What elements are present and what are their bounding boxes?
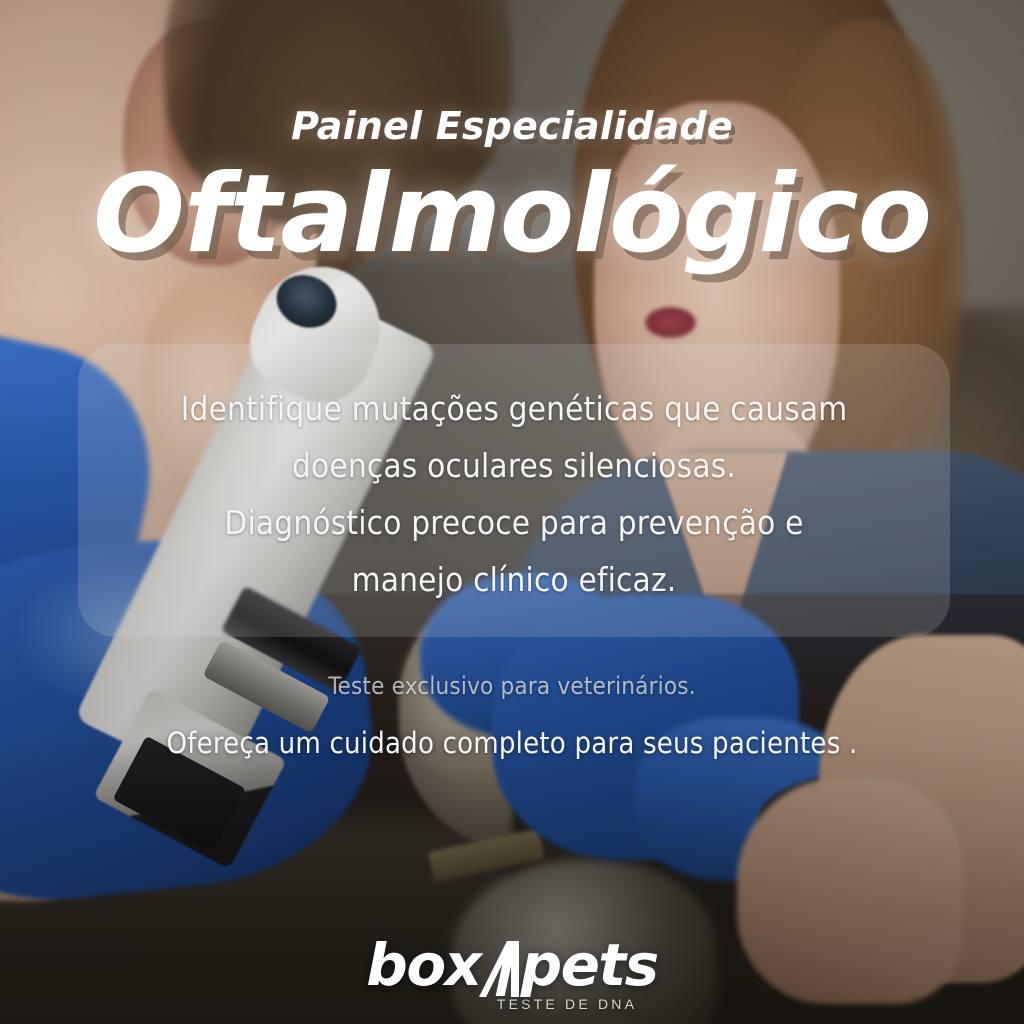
logo-wordmark: boxpets (366, 936, 657, 994)
description-line-3: Diagnóstico precoce para prevenção e (78, 494, 950, 551)
exclusivity-note: Teste exclusivo para veterinários. (0, 672, 1024, 700)
page-title: Oftalmológico (0, 158, 1024, 271)
description-text: Identifique mutações genéticas que causa… (78, 380, 950, 608)
description-line-1: Identifique mutações genéticas que causa… (78, 380, 950, 437)
call-to-action-text: Ofereça um cuidado completo para seus pa… (0, 726, 1024, 760)
promo-card: Painel Especialidade Oftalmológico Ident… (0, 0, 1024, 1024)
kicker-title: Painel Especialidade (0, 104, 1024, 148)
logo-numeral-four-icon (481, 936, 521, 994)
description-line-2: doenças oculares silenciosas. (78, 437, 950, 494)
description-line-4: manejo clínico eficaz. (78, 551, 950, 608)
logo-word-pets: pets (521, 931, 658, 999)
brand-logo: boxpets TESTE DE DNA (0, 936, 1024, 1012)
logo-word-box: box (366, 931, 480, 999)
